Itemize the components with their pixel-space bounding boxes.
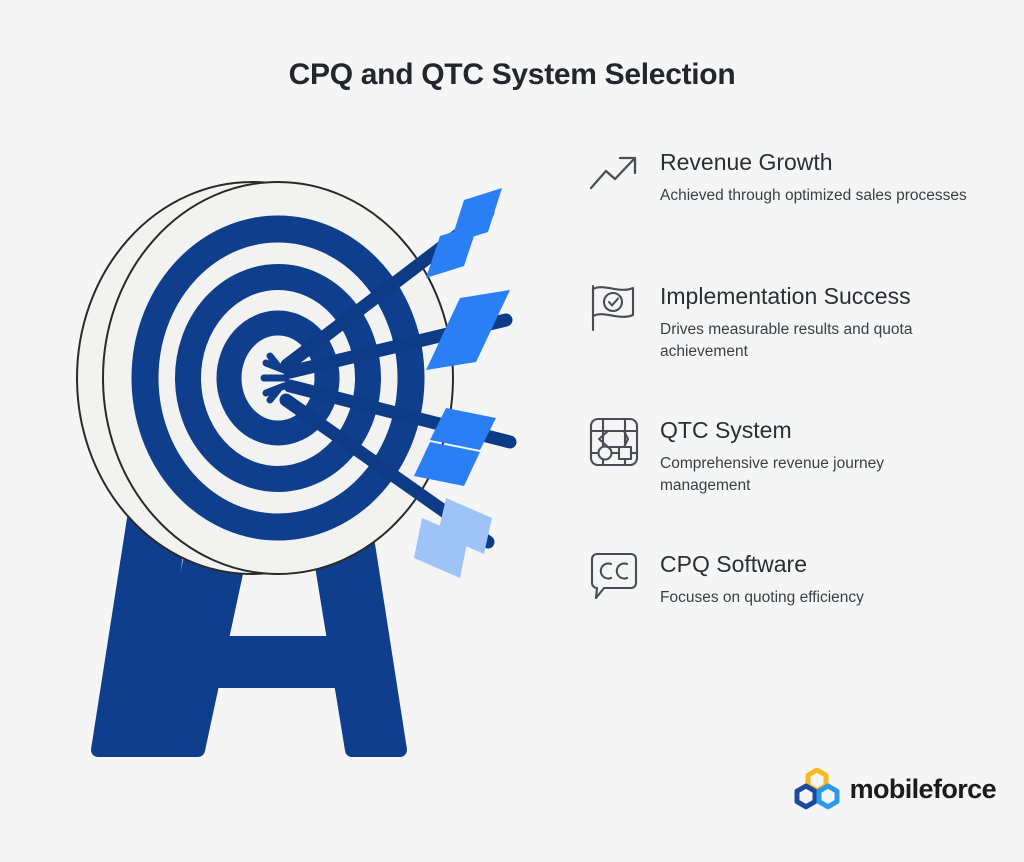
trending-up-icon [586, 146, 642, 202]
feature-title: QTC System [660, 408, 986, 443]
feature-item-qtc-system: QTC System Comprehensive revenue journey… [586, 408, 986, 520]
stand-crossbar [176, 642, 381, 682]
logo-wordmark: mobileforce [850, 774, 996, 805]
feature-item-revenue-growth: Revenue Growth Achieved through optimize… [586, 140, 986, 252]
mobileforce-logo: mobileforce [793, 768, 996, 810]
page-title: CPQ and QTC System Selection [0, 58, 1024, 92]
target-illustration [40, 150, 580, 790]
feature-title: Revenue Growth [660, 140, 986, 175]
hexagon-dark-blue [797, 786, 815, 807]
infographic-canvas: CPQ and QTC System Selection [0, 0, 1024, 862]
circuit-diagram-icon [586, 414, 642, 470]
feature-list: Revenue Growth Achieved through optimize… [586, 140, 986, 632]
feature-description: Drives measurable results and quota achi… [660, 319, 972, 363]
feature-item-cpq-software: CPQ Software Focuses on quoting efficien… [586, 542, 986, 632]
feature-title: CPQ Software [660, 542, 986, 577]
flag-check-icon [586, 280, 642, 336]
closed-caption-bubble-icon [586, 548, 642, 604]
feature-description: Focuses on quoting efficiency [660, 587, 972, 609]
hexagon-light-blue [819, 786, 837, 807]
target-svg [40, 150, 580, 790]
feature-item-implementation-success: Implementation Success Drives measurable… [586, 274, 986, 386]
feature-description: Comprehensive revenue journey management [660, 453, 972, 497]
feature-title: Implementation Success [660, 274, 986, 309]
feature-description: Achieved through optimized sales process… [660, 185, 972, 207]
mobileforce-hexagon-mark [793, 768, 841, 810]
